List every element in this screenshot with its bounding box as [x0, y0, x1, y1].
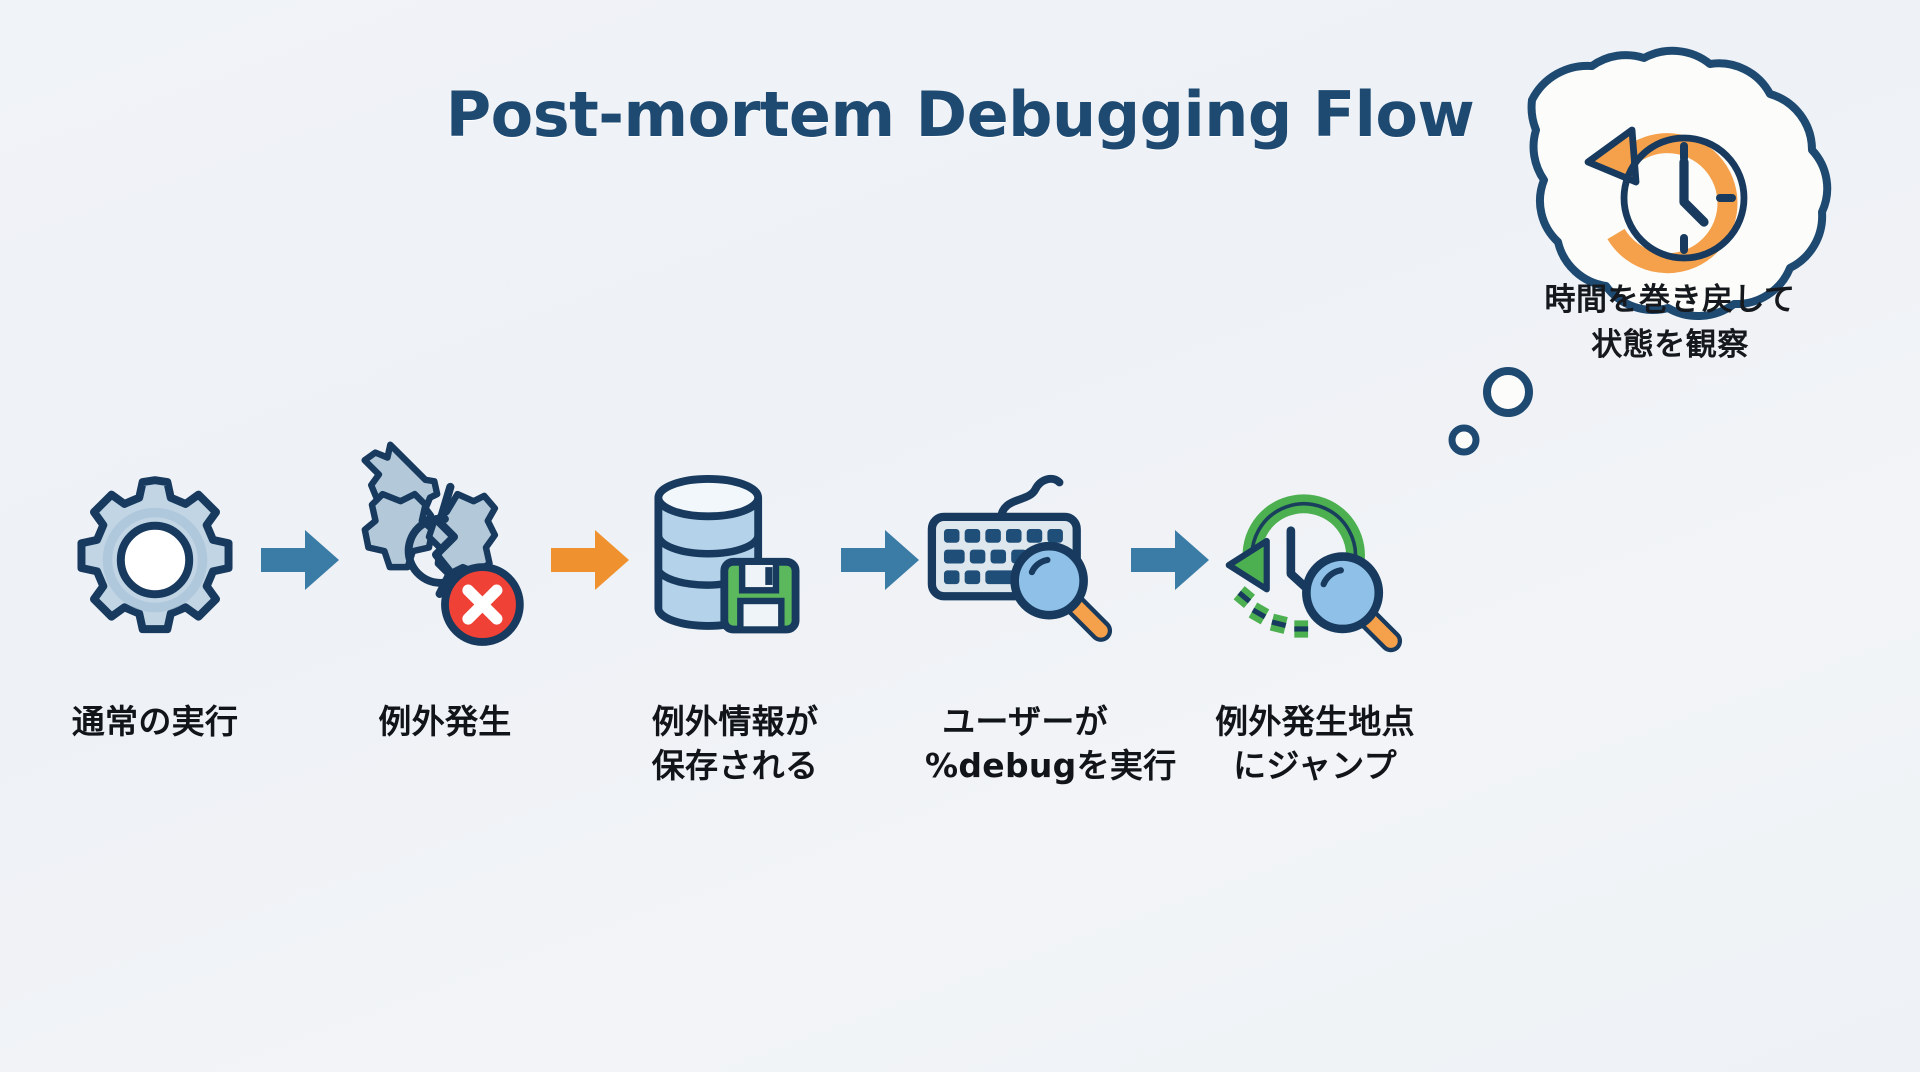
arrow-1: [255, 505, 345, 615]
rewind-clock-search-icon: [1215, 462, 1415, 658]
label-exception-raised: 例外発生: [345, 700, 545, 788]
flow-icon-row: [55, 430, 1535, 690]
arrow-3: [835, 505, 925, 615]
magnifier-icon: [1306, 557, 1390, 641]
label-line: %debugを実行: [925, 744, 1125, 788]
label-jump-to-exception-point: 例外発生地点 にジャンプ: [1215, 700, 1415, 788]
step-icon-exception-info-saved[interactable]: [635, 460, 835, 660]
label-spacer: [835, 700, 925, 788]
label-line: 例外発生: [345, 700, 545, 744]
rewind-clock-icon: [1572, 102, 1792, 302]
label-line: ユーザーが: [925, 700, 1125, 744]
label-exception-info-saved: 例外情報が 保存される: [635, 700, 835, 788]
label-user-runs-debug: ユーザーが %debugを実行: [925, 700, 1125, 788]
error-badge-icon: [445, 567, 520, 642]
label-normal-execution: 通常の実行: [55, 700, 255, 788]
step-icon-exception-raised[interactable]: [345, 460, 545, 660]
label-line: 保存される: [635, 744, 835, 788]
gear-icon: [60, 465, 250, 655]
thought-tail-small: [1452, 428, 1476, 452]
arrow-right-icon: [261, 528, 339, 592]
label-line: にジャンプ: [1215, 744, 1415, 788]
arrow-2: [545, 505, 635, 615]
diagram-canvas: Post-mortem Debugging Flow: [0, 0, 1920, 1072]
bubble-clock-wrap: [1572, 102, 1792, 302]
flow-label-row: 通常の実行 例外発生 例外情報が 保存される ユーザーが %debugを実行 例…: [55, 700, 1535, 788]
database-save-icon: [637, 462, 833, 658]
arrow-4: [1125, 505, 1215, 615]
thought-bubble: 時間を巻き戻して 状態を観察: [1440, 60, 1900, 480]
step-icon-normal-execution[interactable]: [55, 460, 255, 660]
label-line: 例外発生地点: [1215, 700, 1415, 744]
floppy-disk-icon: [724, 562, 795, 630]
label-line: 通常の実行: [55, 700, 255, 744]
step-icon-user-runs-debug[interactable]: [925, 460, 1125, 660]
keyboard-search-icon: [925, 462, 1125, 658]
arrow-right-icon: [841, 528, 919, 592]
arrow-right-icon: [551, 528, 629, 592]
label-spacer: [545, 700, 635, 788]
step-icon-jump-to-exception-point[interactable]: [1215, 460, 1415, 660]
thought-tail-large: [1487, 371, 1529, 413]
label-spacer: [255, 700, 345, 788]
broken-gear-error-icon: [347, 462, 543, 658]
label-spacer: [1125, 700, 1215, 788]
label-line: 例外情報が: [635, 700, 835, 744]
magnifier-icon: [1015, 546, 1101, 630]
arrow-right-icon: [1131, 528, 1209, 592]
